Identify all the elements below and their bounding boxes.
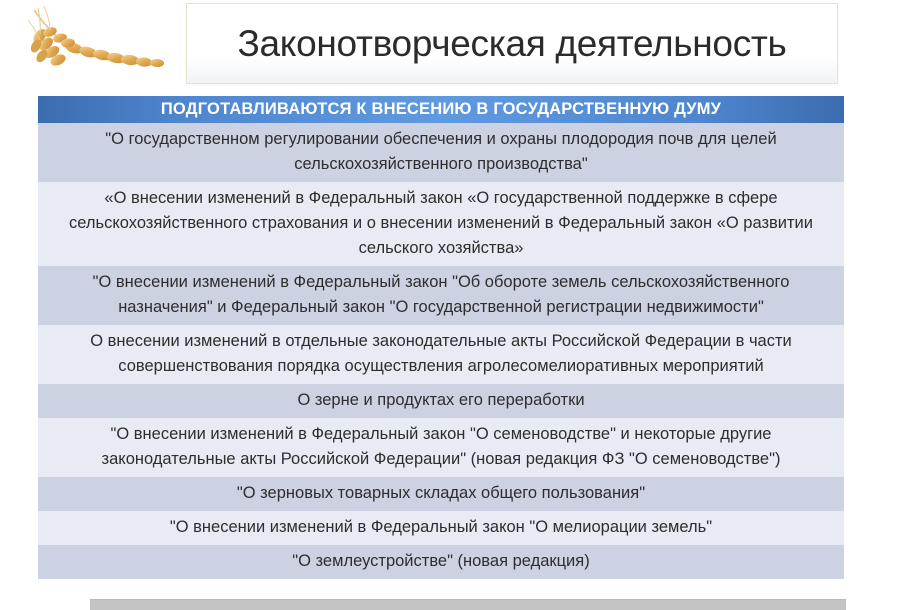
law-row: О внесении изменений в отдельные законод… xyxy=(38,325,844,384)
law-row: "О внесении изменений в Федеральный зако… xyxy=(38,511,844,545)
law-row: "О землеустройстве" (новая редакция) xyxy=(38,545,844,579)
law-row: О зерне и продуктах его переработки xyxy=(38,384,844,418)
legislative-activity-table: ПОДГОТАВЛИВАЮТСЯ К ВНЕСЕНИЮ В ГОСУДАРСТВ… xyxy=(38,96,844,579)
table-header: ПОДГОТАВЛИВАЮТСЯ К ВНЕСЕНИЮ В ГОСУДАРСТВ… xyxy=(38,96,844,123)
law-row: "О внесении изменений в Федеральный зако… xyxy=(38,418,844,477)
table-body: "О государственном регулировании обеспеч… xyxy=(38,123,844,579)
law-row: «О внесении изменений в Федеральный зако… xyxy=(38,182,844,266)
law-row: "О внесении изменений в Федеральный зако… xyxy=(38,266,844,325)
bottom-partial-bar xyxy=(90,599,846,610)
wheat-ears-icon xyxy=(10,2,200,88)
page-title: Законотворческая деятельность xyxy=(237,23,786,65)
law-row: "О зерновых товарных складах общего поль… xyxy=(38,477,844,511)
law-row: "О государственном регулировании обеспеч… xyxy=(38,123,844,182)
title-box: Законотворческая деятельность xyxy=(186,3,838,84)
